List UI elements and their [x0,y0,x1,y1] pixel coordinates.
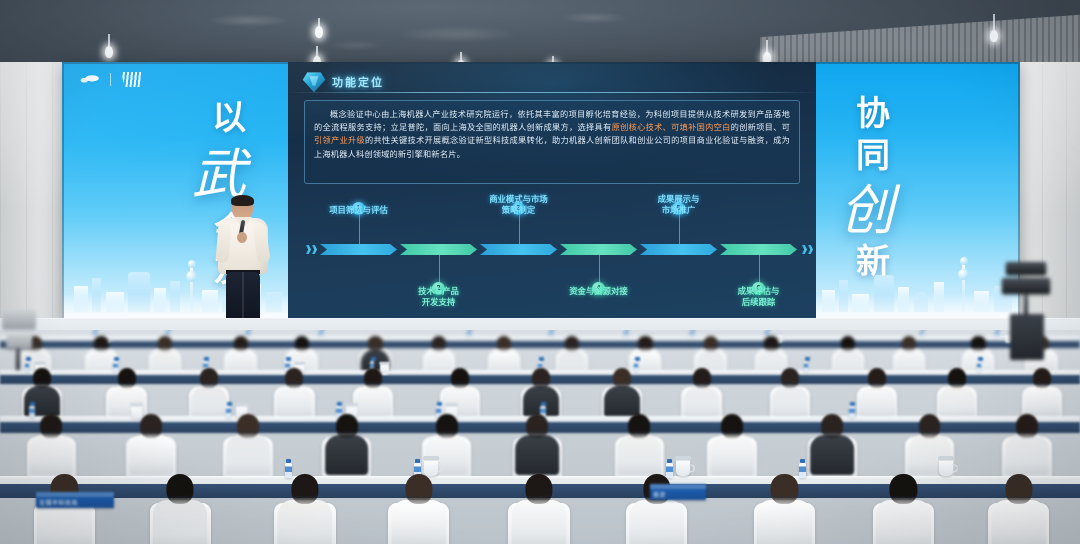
audience-head [868,368,886,388]
camera-equipment-left [0,300,60,370]
conference-hall-scene: 以 武 会 友 [0,0,1080,544]
flow-arrow-4[interactable] [560,244,637,255]
audience-person [388,474,449,544]
audience-head [336,414,358,438]
pendant-light [316,46,318,62]
flow-stem [759,255,760,285]
flow-step-label-6: 成果评估与 后续跟踪 [707,286,811,308]
pendant-light [993,14,995,36]
flow-start-chevron-icon [306,245,318,254]
audience-person [223,414,272,475]
screen-banner-right: 协 同 创 新 [816,62,1020,320]
audience-head [158,336,172,352]
audience-person [602,368,643,418]
audience-torso [276,386,312,419]
audience-head [451,368,469,388]
audience-torso [325,435,369,475]
audience-head [1033,368,1051,388]
name-placard-text: 南京 [653,490,704,499]
speaker-hand [237,232,247,243]
flow-stem [599,255,600,285]
audience-head [233,336,247,352]
flow-end-chevron-icon [802,245,814,254]
audience-torso [226,435,270,475]
audience-person [754,474,815,544]
audience-person [937,368,978,418]
audience-head [919,414,941,438]
audience-head [405,474,432,504]
audience-torso [153,500,207,544]
audience-person [22,368,63,418]
name-placard: 无锡市科技局 [36,492,114,508]
screen-logo-group [76,72,145,87]
audience-torso [859,386,895,419]
water-bottle [549,330,553,337]
pendant-light [766,40,768,58]
water-bottle [624,330,628,337]
audience-head [118,368,136,388]
audience-head [526,414,548,438]
audience-head [902,336,916,352]
flow-step-label-5: 成果展示与 市场推广 [627,194,731,216]
av-monitor [1002,278,1050,294]
audience-head [40,414,62,438]
audience-head [721,414,743,438]
audience-head [948,368,966,388]
section-heading: 功能定位 [302,71,384,93]
diamond-icon [302,71,326,93]
audience-head [890,474,917,504]
name-placard: 南京 [650,484,706,500]
skyline-right [816,256,1020,320]
audience-head [237,414,259,438]
audience-head [971,336,985,352]
audience-head [94,336,108,352]
audience-person [274,368,315,418]
audience-torso [515,435,559,475]
pendant-light [318,18,320,32]
flow-stem [679,214,680,244]
audience-head [525,474,552,504]
audience-torso [757,500,811,544]
audience-person [150,474,211,544]
audience-head [764,336,778,352]
mug [939,459,953,476]
audience-person [189,368,230,418]
flow-arrow-2[interactable] [400,244,477,255]
flow-arrow-6[interactable] [720,244,797,255]
audience-person [1002,414,1051,475]
audience-person [770,368,811,418]
audience-head [497,336,511,352]
audience-head [841,336,855,352]
paragraph-box: 概念验证中心由上海机器人产业技术研究院运行，依托其丰富的项目孵化培育经验，为科创… [304,100,800,184]
water-bottle [467,330,471,337]
audience-head [565,336,579,352]
paragraph-highlight: 原创核心技术、可填补国内空白 [612,122,731,132]
tripod-stand [16,348,20,370]
audience-torso [811,435,855,475]
audience-torso [129,435,173,475]
paragraph-text: 的共性关键技术开展概念验证新型科技成果转化，助力机器人创新团队和创业公司的项目商… [314,135,790,158]
flow-stem [519,214,520,244]
flow-step-label-1: 项目筛选与评估 [307,205,411,216]
audience-head [532,368,550,388]
section-title: 功能定位 [332,74,384,90]
water-bottle [995,330,999,337]
audience-person [707,414,756,475]
audience-person [513,414,562,475]
audience-torso [191,386,227,419]
audience-torso [630,500,684,544]
audience-person [1022,368,1063,418]
speaker-on-stage [214,196,272,324]
audience-person [322,414,371,475]
logo-divider [110,73,111,86]
audience-head [364,368,382,388]
flow-arrow-1[interactable] [320,244,397,255]
audience-head [285,368,303,388]
audience-torso [391,500,445,544]
audience-person [988,474,1049,544]
audience-person [615,414,664,475]
av-rack [1010,314,1044,360]
audience-head [703,336,717,352]
audience-torso [278,500,332,544]
audience-person [34,474,95,544]
audience-person [274,474,335,544]
audience-area: 无锡市科技局南京 [0,330,1080,544]
audience-head [436,414,458,438]
pendant-light [108,34,110,52]
name-placard-text: 无锡市科技局 [39,498,112,507]
paragraph-highlight: 引领产业升级 [314,135,365,145]
event-logo-icon [76,72,102,87]
camera-body [2,310,36,330]
audience-torso [29,435,73,475]
av-equipment-right [1000,262,1056,362]
audience-person [508,474,569,544]
audience-person [808,414,857,475]
audience-head [33,368,51,388]
audience-head [771,474,798,504]
audience-head [368,336,382,352]
audience-head [294,336,308,352]
audience-head [638,336,652,352]
led-stage-screen: 以 武 会 友 [62,62,1020,320]
audience-torso [992,500,1046,544]
flow-arrow-3[interactable] [480,244,557,255]
flow-stem [439,255,440,285]
speaker-hair [231,195,254,206]
audience-torso [1005,435,1049,475]
audience-head [1005,474,1032,504]
slide-content-panel: 功能定位 概念验证中心由上海机器人产业技术研究院运行，依托其丰富的项目孵化培育经… [288,62,816,320]
av-monitor [1006,262,1046,275]
audience-torso [710,435,754,475]
process-flow-diagram: 1项目筛选与评估2技术&产品 开发支持3商业模式与市场 策略制定4资金与资源对接… [298,192,806,312]
flow-step-label-2: 技术&产品 开发支持 [387,286,491,308]
audience-head [693,368,711,388]
partner-logo-icon [119,72,145,87]
audience-head [140,414,162,438]
skyline-mist [816,294,1020,320]
flow-stem [359,214,360,244]
audience-head [200,368,218,388]
audience-torso [772,386,808,419]
water-bottle [977,361,982,371]
flow-step-label-3: 商业模式与市场 策略制定 [467,194,571,216]
water-bottle [319,330,323,337]
flow-arrow-5[interactable] [640,244,717,255]
mug [676,459,690,476]
speaker-trousers [226,272,260,324]
paragraph-text: 的创新项目、可 [731,122,790,132]
audience-head [781,368,799,388]
audience-head [432,336,446,352]
audience-torso [617,435,661,475]
water-bottle [690,330,694,337]
flow-rail: 1项目筛选与评估2技术&产品 开发支持3商业模式与市场 策略制定4资金与资源对接… [306,244,798,255]
audience-person [857,368,898,418]
audience-head [167,474,194,504]
audience-head [613,368,631,388]
audience-person [873,474,934,544]
audience-torso [512,500,566,544]
audience-torso [876,500,930,544]
audience-head [291,474,318,504]
audience-head [822,414,844,438]
mug [424,459,438,476]
flow-step-label-4: 资金与资源对接 [547,286,651,297]
slide-paragraph: 概念验证中心由上海机器人产业技术研究院运行，依托其丰富的项目孵化培育经验，为科创… [314,108,790,161]
audience-head [628,414,650,438]
audience-person [27,414,76,475]
audience-head [1016,414,1038,438]
audience-person [681,368,722,418]
audience-person [126,414,175,475]
